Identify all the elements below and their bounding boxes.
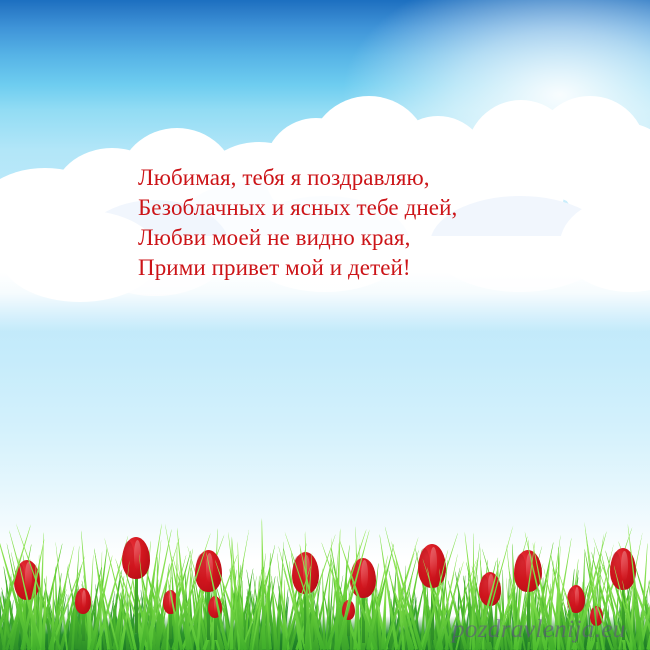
poem-line-3: Любви моей не видно края,	[138, 223, 608, 253]
poem-line-2: Безоблачных и ясных тебе дней,	[138, 193, 608, 223]
tulip-bloom	[163, 590, 178, 614]
poem-line-4: Прими привет мой и детей!	[138, 253, 608, 283]
tulip-flower	[122, 537, 150, 579]
poem-line-1: Любимая, тебя я поздравляю,	[138, 163, 608, 193]
tulip-flower	[163, 590, 178, 614]
tulip-flower	[418, 544, 446, 588]
greeting-poem: Любимая, тебя я поздравляю,Безоблачных и…	[138, 163, 608, 283]
tulip-flower	[75, 588, 91, 614]
tulip-bloom	[418, 544, 446, 588]
site-watermark: pozdravlenija.eu	[452, 616, 626, 644]
greeting-card: Любимая, тебя я поздравляю,Безоблачных и…	[0, 0, 650, 650]
tulip-bloom	[122, 537, 150, 579]
tulip-bloom	[75, 588, 91, 614]
tulip-flower	[350, 558, 376, 598]
tulip-bloom	[350, 558, 376, 598]
